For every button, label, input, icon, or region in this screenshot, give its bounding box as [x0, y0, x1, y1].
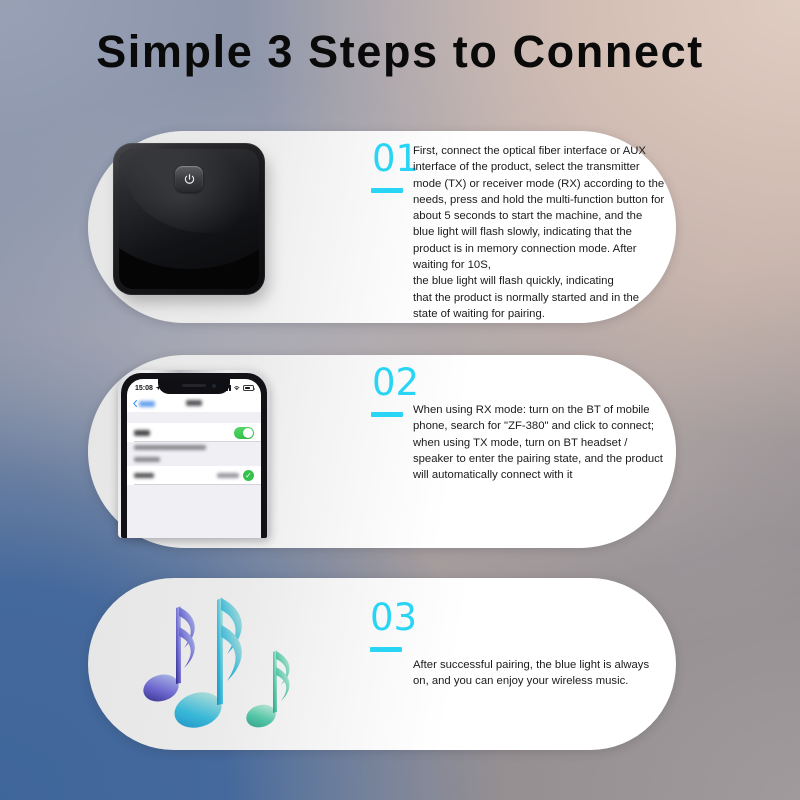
status-time: 15:08	[135, 385, 153, 392]
front-camera-icon	[212, 384, 216, 388]
infographic-page: Simple 3 Steps to Connect 01 First, conn…	[0, 0, 800, 800]
devices-header-row	[127, 454, 261, 466]
discoverable-note-row	[127, 442, 261, 454]
step-text-2: When using RX mode: turn on the BT of mo…	[413, 402, 663, 483]
music-note-1	[140, 606, 195, 706]
phone-nav-bar	[127, 395, 261, 412]
device-body	[113, 143, 265, 295]
step-text-3: After successful pairing, the blue light…	[413, 657, 663, 690]
bluetooth-toggle[interactable]	[234, 427, 254, 439]
step-number-3: 03	[370, 599, 417, 636]
back-button[interactable]	[133, 400, 155, 407]
paired-device-label	[134, 473, 154, 479]
connected-check-icon: ✓	[243, 470, 254, 481]
bluetooth-toggle-row[interactable]	[127, 423, 261, 442]
step-text-1: First, connect the optical fiber interfa…	[413, 143, 666, 322]
phone-bezel: 15:08	[121, 373, 267, 538]
back-label	[139, 401, 155, 407]
power-icon	[175, 166, 203, 192]
transmitter-device-image	[113, 143, 273, 303]
phone-notch	[158, 379, 230, 394]
bluetooth-row-label	[134, 430, 150, 436]
step-rule-1	[371, 188, 403, 193]
music-note-3	[243, 650, 289, 731]
earpiece-speaker	[182, 384, 206, 387]
nav-title	[186, 400, 202, 408]
music-notes-svg	[140, 585, 325, 740]
status-left: 15:08	[135, 385, 161, 392]
phone-screen: 15:08	[127, 379, 261, 538]
music-notes-image	[140, 585, 325, 740]
row-separator	[134, 484, 261, 485]
step-rule-2	[371, 412, 403, 417]
wifi-icon	[233, 385, 241, 391]
phone-bluetooth-settings-image: 15:08	[118, 370, 270, 538]
step-rule-3	[370, 647, 402, 652]
chevron-left-icon	[133, 400, 137, 407]
row-separator	[134, 441, 261, 442]
battery-icon	[243, 385, 254, 391]
device-face	[119, 149, 259, 289]
phone-frame: 15:08	[118, 370, 270, 538]
paired-device-status	[217, 473, 239, 478]
page-title: Simple 3 Steps to Connect	[0, 26, 800, 78]
bluetooth-settings-list: ✓	[127, 412, 261, 538]
list-gap	[127, 412, 261, 423]
paired-device-row[interactable]: ✓	[127, 466, 261, 485]
step-number-2: 02	[372, 364, 419, 401]
